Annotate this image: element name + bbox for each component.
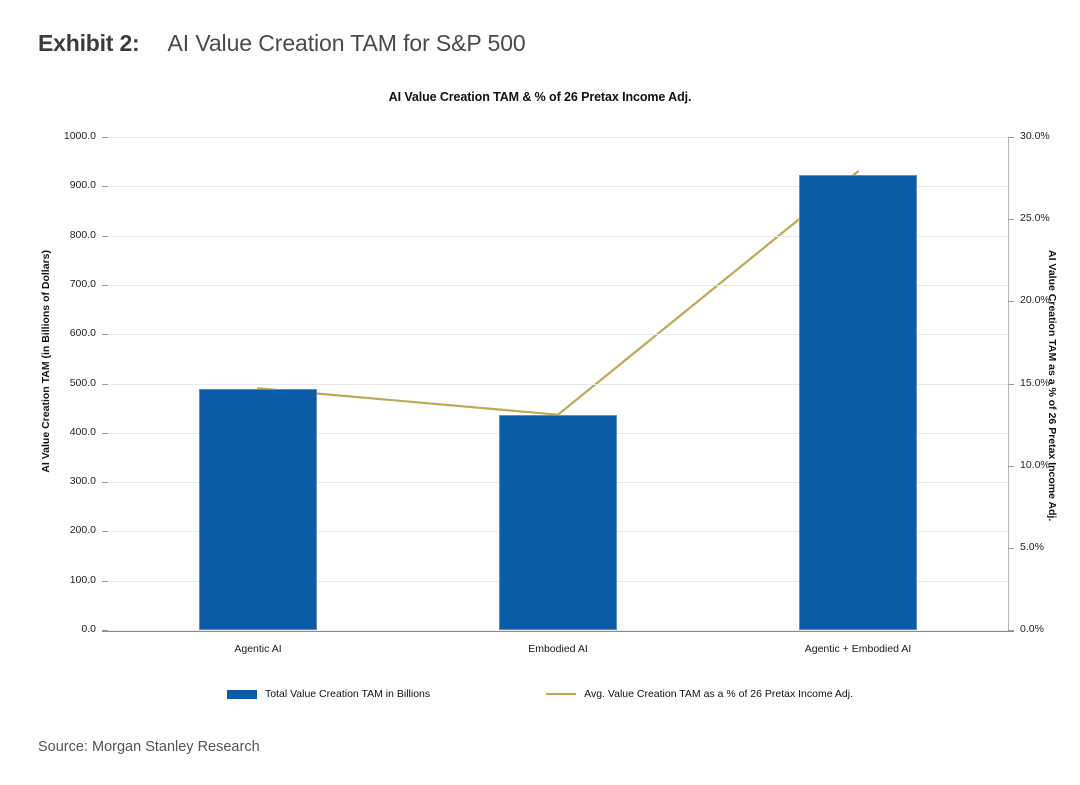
y-axis-tick-label-right: 20.0% xyxy=(1020,294,1080,306)
y-axis-tick-left xyxy=(102,384,108,385)
y-axis-tick-label-right: 0.0% xyxy=(1020,623,1080,635)
chart-figure: AI Value Creation TAM & % of 26 Pretax I… xyxy=(0,80,1080,720)
y-axis-tick-right xyxy=(1008,466,1014,467)
y-axis-tick-left xyxy=(102,482,108,483)
y-axis-tick-label-left: 400.0 xyxy=(22,426,96,438)
y-axis-tick-left xyxy=(102,334,108,335)
legend-item-bars[interactable]: Total Value Creation TAM in Billions xyxy=(227,688,430,700)
gridline xyxy=(108,630,1008,631)
line-swatch-icon xyxy=(546,693,576,695)
x-axis-category-label: Embodied AI xyxy=(448,643,668,655)
y-axis-tick-right xyxy=(1008,301,1014,302)
y-axis-tick-left xyxy=(102,630,108,631)
y-axis-tick-label-right: 15.0% xyxy=(1020,377,1080,389)
legend-label-bars: Total Value Creation TAM in Billions xyxy=(265,688,430,700)
bar-3[interactable] xyxy=(799,175,917,630)
y-axis-tick-right xyxy=(1008,384,1014,385)
y-axis-tick-label-left: 900.0 xyxy=(22,179,96,191)
y-axis-tick-label-left: 700.0 xyxy=(22,278,96,290)
y-axis-tick-left xyxy=(102,236,108,237)
source-note: Source: Morgan Stanley Research xyxy=(38,739,260,755)
page-title: AI Value Creation TAM for S&P 500 xyxy=(168,30,526,57)
chart-title: AI Value Creation TAM & % of 26 Pretax I… xyxy=(0,90,1080,104)
y-axis-tick-label-left: 200.0 xyxy=(22,524,96,536)
y-axis-tick-left xyxy=(102,285,108,286)
y-axis-tick-left xyxy=(102,433,108,434)
y-axis-tick-label-left: 500.0 xyxy=(22,377,96,389)
y-axis-tick-label-left: 0.0 xyxy=(22,623,96,635)
exhibit-label: Exhibit 2: xyxy=(38,30,140,57)
x-axis-category-label: Agentic AI xyxy=(148,643,368,655)
y-axis-tick-left xyxy=(102,186,108,187)
legend-item-line[interactable]: Avg. Value Creation TAM as a % of 26 Pre… xyxy=(546,688,853,700)
chart-legend: Total Value Creation TAM in Billions Avg… xyxy=(0,688,1080,700)
y-axis-tick-right xyxy=(1008,630,1014,631)
gridline xyxy=(108,137,1008,138)
y-axis-tick-left xyxy=(102,581,108,582)
y-axis-tick-label-right: 10.0% xyxy=(1020,459,1080,471)
bar-swatch-icon xyxy=(227,690,257,699)
y-axis-tick-left xyxy=(102,137,108,138)
y-axis-tick-label-left: 600.0 xyxy=(22,327,96,339)
y-axis-tick-label-left: 100.0 xyxy=(22,574,96,586)
bar-1[interactable] xyxy=(199,389,317,630)
y-axis-tick-right xyxy=(1008,548,1014,549)
y-axis-tick-label-right: 30.0% xyxy=(1020,130,1080,142)
y-axis-tick-label-left: 300.0 xyxy=(22,475,96,487)
y-axis-tick-label-left: 1000.0 xyxy=(22,130,96,142)
y-axis-tick-left xyxy=(102,531,108,532)
y-axis-tick-right xyxy=(1008,219,1014,220)
y-axis-tick-label-right: 5.0% xyxy=(1020,541,1080,553)
y-axis-tick-label-right: 25.0% xyxy=(1020,212,1080,224)
legend-label-line: Avg. Value Creation TAM as a % of 26 Pre… xyxy=(584,688,853,700)
exhibit-header: Exhibit 2: AI Value Creation TAM for S&P… xyxy=(38,30,526,57)
plot-area xyxy=(108,137,1008,630)
bar-2[interactable] xyxy=(499,415,617,630)
y-axis-tick-right xyxy=(1008,137,1014,138)
y-axis-tick-label-left: 800.0 xyxy=(22,229,96,241)
x-axis-category-label: Agentic + Embodied AI xyxy=(748,643,968,655)
